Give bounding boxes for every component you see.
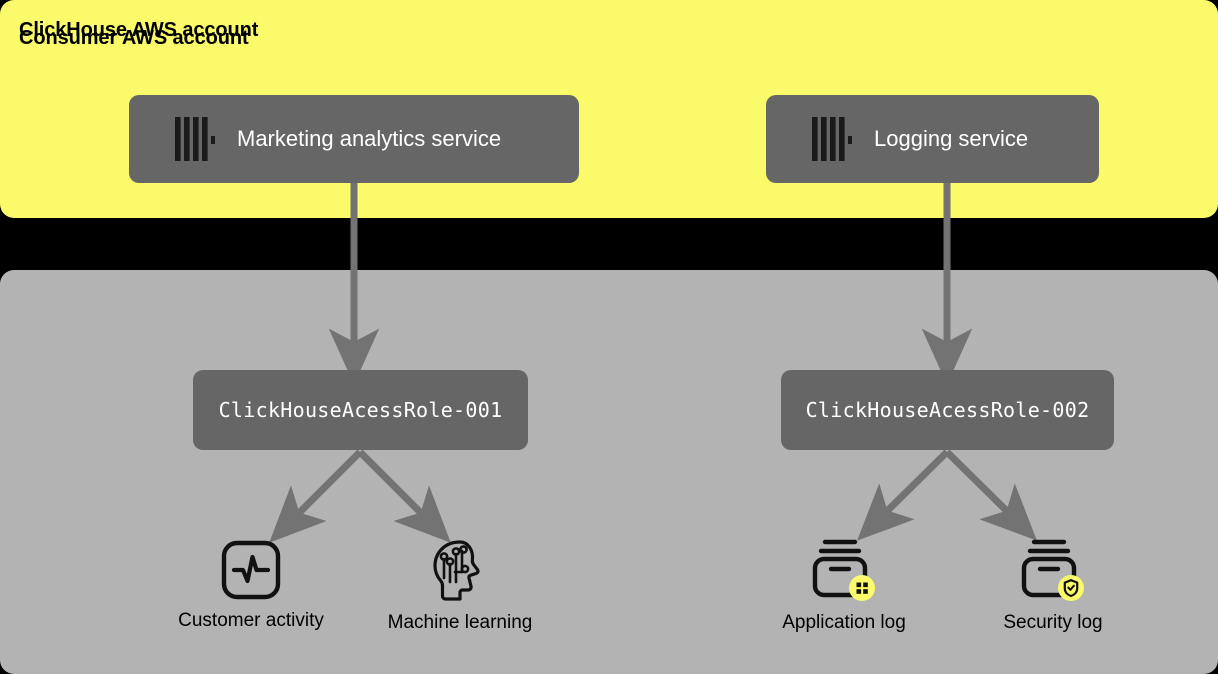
- resource-customer-activity[interactable]: Customer activity: [151, 540, 351, 632]
- resource-label-customer-activity: Customer activity: [178, 610, 324, 632]
- service-box-logging[interactable]: Logging service: [766, 95, 1099, 183]
- service-label-logging: Logging service: [874, 126, 1028, 152]
- resource-machine-learning[interactable]: Machine learning: [360, 538, 560, 634]
- ai-head-circuit-icon: [429, 538, 491, 602]
- log-stack-icon: [1015, 536, 1091, 602]
- resource-label-security-log: Security log: [1003, 612, 1102, 634]
- resource-label-application-log: Application log: [782, 612, 906, 634]
- resource-security-log[interactable]: Security log: [953, 536, 1153, 634]
- role-box-clickhouse-acess-role-002[interactable]: ClickHouseAcessRole-002: [781, 370, 1114, 450]
- clickhouse-logo-icon: [812, 117, 852, 161]
- role-label-001: ClickHouseAcessRole-001: [219, 398, 503, 422]
- clickhouse-logo-icon: [175, 117, 215, 161]
- service-label-marketing-analytics: Marketing analytics service: [237, 126, 501, 152]
- role-box-clickhouse-acess-role-001[interactable]: ClickHouseAcessRole-001: [193, 370, 528, 450]
- activity-pulse-icon: [221, 540, 281, 600]
- service-box-marketing-analytics[interactable]: Marketing analytics service: [129, 95, 579, 183]
- role-label-002: ClickHouseAcessRole-002: [806, 398, 1090, 422]
- diagram-canvas: ClickHouse AWS account Consumer AWS acco…: [0, 0, 1218, 674]
- log-stack-icon: [806, 536, 882, 602]
- resource-label-machine-learning: Machine learning: [388, 612, 533, 634]
- resource-application-log[interactable]: Application log: [744, 536, 944, 634]
- grid-badge-icon: [849, 575, 875, 601]
- consumer-account-title: Consumer AWS account: [19, 27, 249, 50]
